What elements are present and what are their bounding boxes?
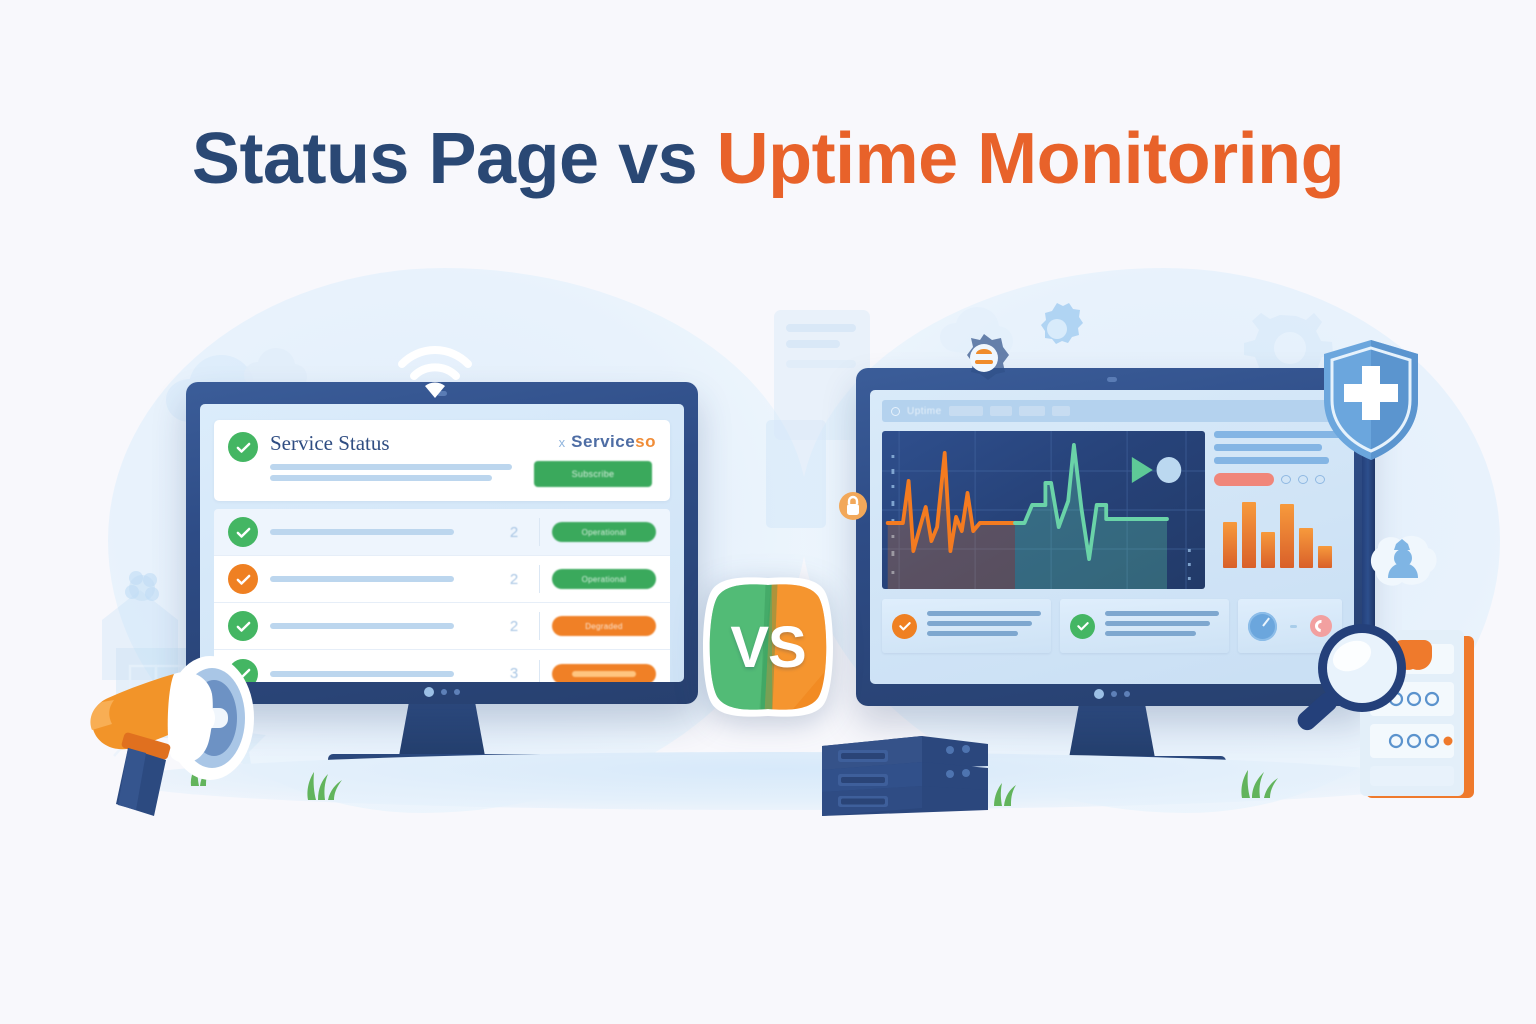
dashboard-topbar: Uptime: [882, 400, 1342, 422]
grass-decoration: [1234, 768, 1280, 803]
gear-icon: [1028, 300, 1086, 358]
alert-row: [1214, 473, 1342, 486]
gear-badge-icon: [958, 332, 1010, 384]
chart-svg: [882, 431, 1205, 589]
check-circle-green-icon: [228, 432, 258, 462]
row-value: 3: [501, 665, 527, 682]
brand-logo: x Serviceso: [534, 432, 656, 452]
uptime-dashboard-ui: Uptime: [870, 390, 1354, 684]
left-monitor-indicator-dots: [424, 687, 460, 697]
user-gear-icon: [1368, 534, 1440, 600]
status-page-title: Service Status: [270, 432, 522, 455]
brand-name: Serviceso: [571, 432, 656, 452]
magnifier-icon: [1288, 618, 1416, 750]
vs-badge: VS: [686, 572, 850, 722]
response-time-chart: [882, 431, 1205, 589]
row-value: 2: [501, 618, 527, 635]
page-title-part-2: Uptime Monitoring: [717, 119, 1344, 199]
megaphone-icon: [62, 632, 330, 830]
left-monitor-neck: [399, 700, 485, 756]
right-monitor-screen: Uptime: [870, 390, 1354, 684]
status-dot-icon: [891, 407, 900, 416]
wifi-icon: [392, 336, 478, 398]
illustration-canvas: Status Page vs Uptime Monitoring: [0, 0, 1536, 1024]
status-card[interactable]: [882, 599, 1051, 653]
status-badge: Operational: [552, 569, 656, 589]
status-page-header-card: Service Status x Serviceso Subscribe: [214, 420, 670, 501]
right-monitor-neck: [1069, 702, 1155, 758]
row-value: 2: [501, 571, 527, 588]
status-page-header-actions: x Serviceso Subscribe: [534, 432, 656, 487]
status-badge: Operational: [552, 522, 656, 542]
lock-icon: [838, 488, 868, 524]
server-stack-icon: [812, 722, 998, 818]
vs-label: VS: [686, 572, 850, 722]
page-title-part-1: Status Page vs: [192, 119, 717, 199]
gauge-icon: [1248, 612, 1277, 641]
check-circle-green-icon: [228, 517, 258, 547]
right-monitor-indicator-dots: [1094, 689, 1130, 699]
right-monitor-camera-icon: [1107, 377, 1117, 382]
bar-chart: [1214, 496, 1342, 568]
check-circle-orange-icon: [228, 564, 258, 594]
row-value: 2: [501, 524, 527, 541]
subscribe-button[interactable]: Subscribe: [534, 461, 652, 487]
shield-plus-icon: [1318, 336, 1424, 464]
check-circle-orange-icon: [892, 614, 917, 639]
status-badge: Degraded: [552, 616, 656, 636]
status-badge: [552, 664, 656, 683]
status-page-header-text: Service Status: [270, 432, 522, 486]
status-card[interactable]: [1060, 599, 1229, 653]
dashboard-status-cards: [882, 599, 1342, 653]
brand-mark-icon: x: [559, 435, 566, 450]
check-circle-green-icon: [1070, 614, 1095, 639]
dashboard-body: [882, 431, 1342, 589]
play-triangle-icon: [1132, 457, 1153, 483]
dashboard-title: Uptime: [907, 406, 942, 417]
page-title: Status Page vs Uptime Monitoring: [0, 118, 1536, 200]
table-row[interactable]: 2 Operational: [214, 556, 670, 603]
status-circle-icon: [1157, 457, 1182, 483]
alert-pill: [1214, 473, 1274, 486]
table-row[interactable]: 2 Operational: [214, 509, 670, 556]
